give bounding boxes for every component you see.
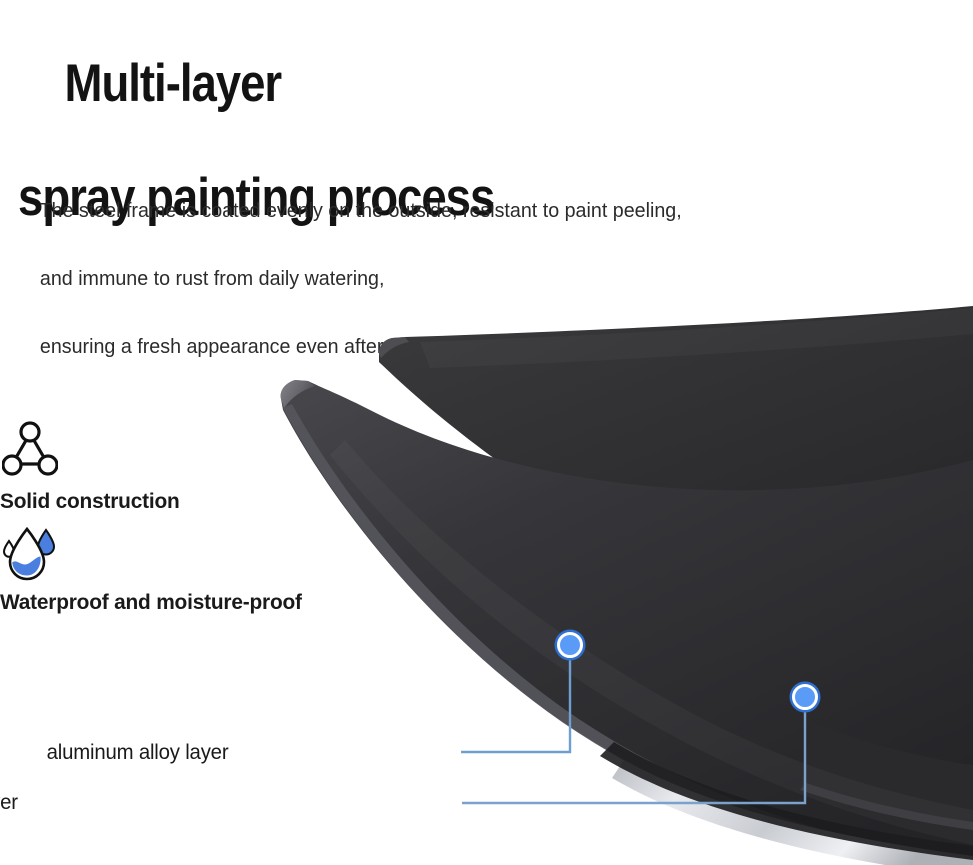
infographic-canvas: Multi-layer spray painting process The s… xyxy=(0,0,973,865)
description-line-1: The steel frame is coated evenly on the … xyxy=(40,199,682,222)
callout-label-aluminum: aluminum alloy layer xyxy=(46,741,228,765)
product-panels-graphic xyxy=(0,250,973,865)
product-illustration xyxy=(0,250,973,865)
callout-marker-paint[interactable] xyxy=(792,684,818,710)
callout-label-paint: waterproof and rust-resistant paint laye… xyxy=(0,791,18,815)
page-title-line-1: Multi-layer xyxy=(65,54,282,113)
feature-label-solid-construction: Solid construction xyxy=(0,489,180,514)
water-droplet-icon xyxy=(2,524,60,584)
callout-marker-aluminum[interactable] xyxy=(557,632,583,658)
feature-label-waterproof: Waterproof and moisture-proof xyxy=(0,590,302,615)
triangle-nodes-icon xyxy=(2,420,58,478)
